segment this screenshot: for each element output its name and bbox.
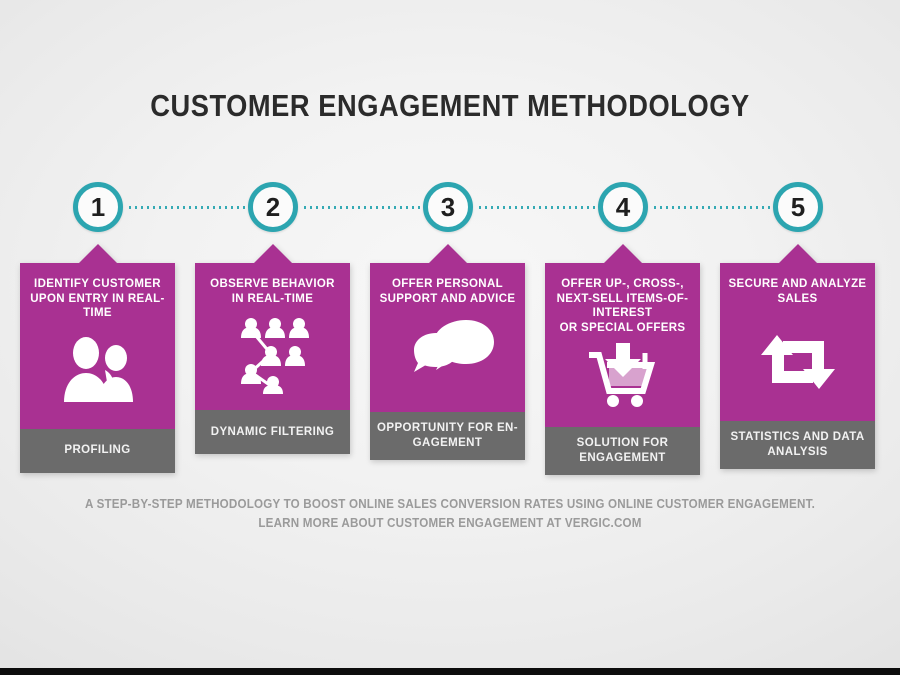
two-people-icon: [20, 321, 175, 417]
step-number-circle-4[interactable]: 4: [598, 182, 648, 232]
headline-line: UPON ENTRY IN REAL-TIME: [27, 292, 168, 321]
card-pointer-tab: [254, 244, 292, 263]
card-footer: DYNAMIC FILTERING: [195, 410, 350, 454]
card-headline: OFFER UP-, CROSS-, NEXT-SELL ITEMS-OF-IN…: [545, 263, 700, 335]
recycle-arrows-icon: [720, 306, 875, 417]
headline-line: IN REAL-TIME: [202, 292, 343, 307]
card-headline: IDENTIFY CUSTOMER UPON ENTRY IN REAL-TIM…: [20, 263, 175, 321]
card-headline: SECURE AND ANALYZE SALES: [720, 263, 875, 306]
card-footer: PROFILING: [20, 429, 175, 473]
footer-line: SOLUTION FOR: [577, 436, 669, 451]
bottom-bar: [0, 668, 900, 675]
headline-line: OBSERVE BEHAVIOR: [202, 277, 343, 292]
step-card-5[interactable]: SECURE AND ANALYZE SALES STATISTICS AND …: [720, 263, 875, 469]
connector-line-4-5: [654, 206, 770, 209]
headline-line: IDENTIFY CUSTOMER: [27, 277, 168, 292]
card-footer: OPPORTUNITY FOR EN- GAGEMENT: [370, 412, 525, 460]
headline-line: SUPPORT AND ADVICE: [377, 292, 518, 307]
footer-line: STATISTICS AND DATA: [730, 430, 864, 445]
card-pointer-tab: [79, 244, 117, 263]
footer-line: PROFILING: [64, 443, 130, 458]
headline-line: NEXT-SELL ITEMS-OF-INTEREST: [552, 292, 693, 321]
people-network-icon: [195, 306, 350, 402]
headline-line: OR SPECIAL OFFERS: [552, 321, 693, 336]
step-number-circle-3[interactable]: 3: [423, 182, 473, 232]
connector-line-1-2: [129, 206, 245, 209]
speech-bubbles-icon: [370, 306, 525, 402]
infographic-canvas: CUSTOMER ENGAGEMENT METHODOLOGY 1 2 3 4 …: [0, 0, 900, 675]
caption: A STEP-BY-STEP METHODOLOGY TO BOOST ONLI…: [0, 495, 900, 533]
step-card-3[interactable]: OFFER PERSONAL SUPPORT AND ADVICE OPPORT…: [370, 263, 525, 460]
footer-line: DYNAMIC FILTERING: [211, 425, 335, 440]
card-body: SECURE AND ANALYZE SALES: [720, 263, 875, 421]
footer-line: OPPORTUNITY FOR EN-: [377, 421, 518, 436]
step-card-1[interactable]: IDENTIFY CUSTOMER UPON ENTRY IN REAL-TIM…: [20, 263, 175, 473]
caption-line-2: LEARN MORE ABOUT CUSTOMER ENGAGEMENT AT …: [32, 514, 869, 533]
step-card-2[interactable]: OBSERVE BEHAVIOR IN REAL-TIME: [195, 263, 350, 454]
step-number-circle-5[interactable]: 5: [773, 182, 823, 232]
headline-line: SECURE AND ANALYZE SALES: [727, 277, 868, 306]
headline-line: OFFER UP-, CROSS-,: [552, 277, 693, 292]
card-pointer-tab: [429, 244, 467, 263]
step-number-circle-1[interactable]: 1: [73, 182, 123, 232]
card-footer: STATISTICS AND DATA ANALYSIS: [720, 421, 875, 469]
card-pointer-tab: [604, 244, 642, 263]
card-body: OBSERVE BEHAVIOR IN REAL-TIME: [195, 263, 350, 410]
footer-line: GAGEMENT: [377, 436, 518, 451]
footer-line: ANALYSIS: [730, 445, 864, 460]
card-headline: OBSERVE BEHAVIOR IN REAL-TIME: [195, 263, 350, 306]
connector-line-2-3: [304, 206, 420, 209]
step-number-circle-2[interactable]: 2: [248, 182, 298, 232]
caption-line-1: A STEP-BY-STEP METHODOLOGY TO BOOST ONLI…: [32, 495, 869, 514]
card-body: OFFER UP-, CROSS-, NEXT-SELL ITEMS-OF-IN…: [545, 263, 700, 427]
connector-line-3-4: [479, 206, 595, 209]
card-body: IDENTIFY CUSTOMER UPON ENTRY IN REAL-TIM…: [20, 263, 175, 429]
headline-line: OFFER PERSONAL: [377, 277, 518, 292]
card-headline: OFFER PERSONAL SUPPORT AND ADVICE: [370, 263, 525, 306]
shopping-cart-download-icon: [545, 335, 700, 417]
footer-line: ENGAGEMENT: [577, 451, 669, 466]
step-card-4[interactable]: OFFER UP-, CROSS-, NEXT-SELL ITEMS-OF-IN…: [545, 263, 700, 475]
page-title: CUSTOMER ENGAGEMENT METHODOLOGY: [54, 88, 846, 124]
card-pointer-tab: [779, 244, 817, 263]
card-body: OFFER PERSONAL SUPPORT AND ADVICE: [370, 263, 525, 412]
card-footer: SOLUTION FOR ENGAGEMENT: [545, 427, 700, 475]
